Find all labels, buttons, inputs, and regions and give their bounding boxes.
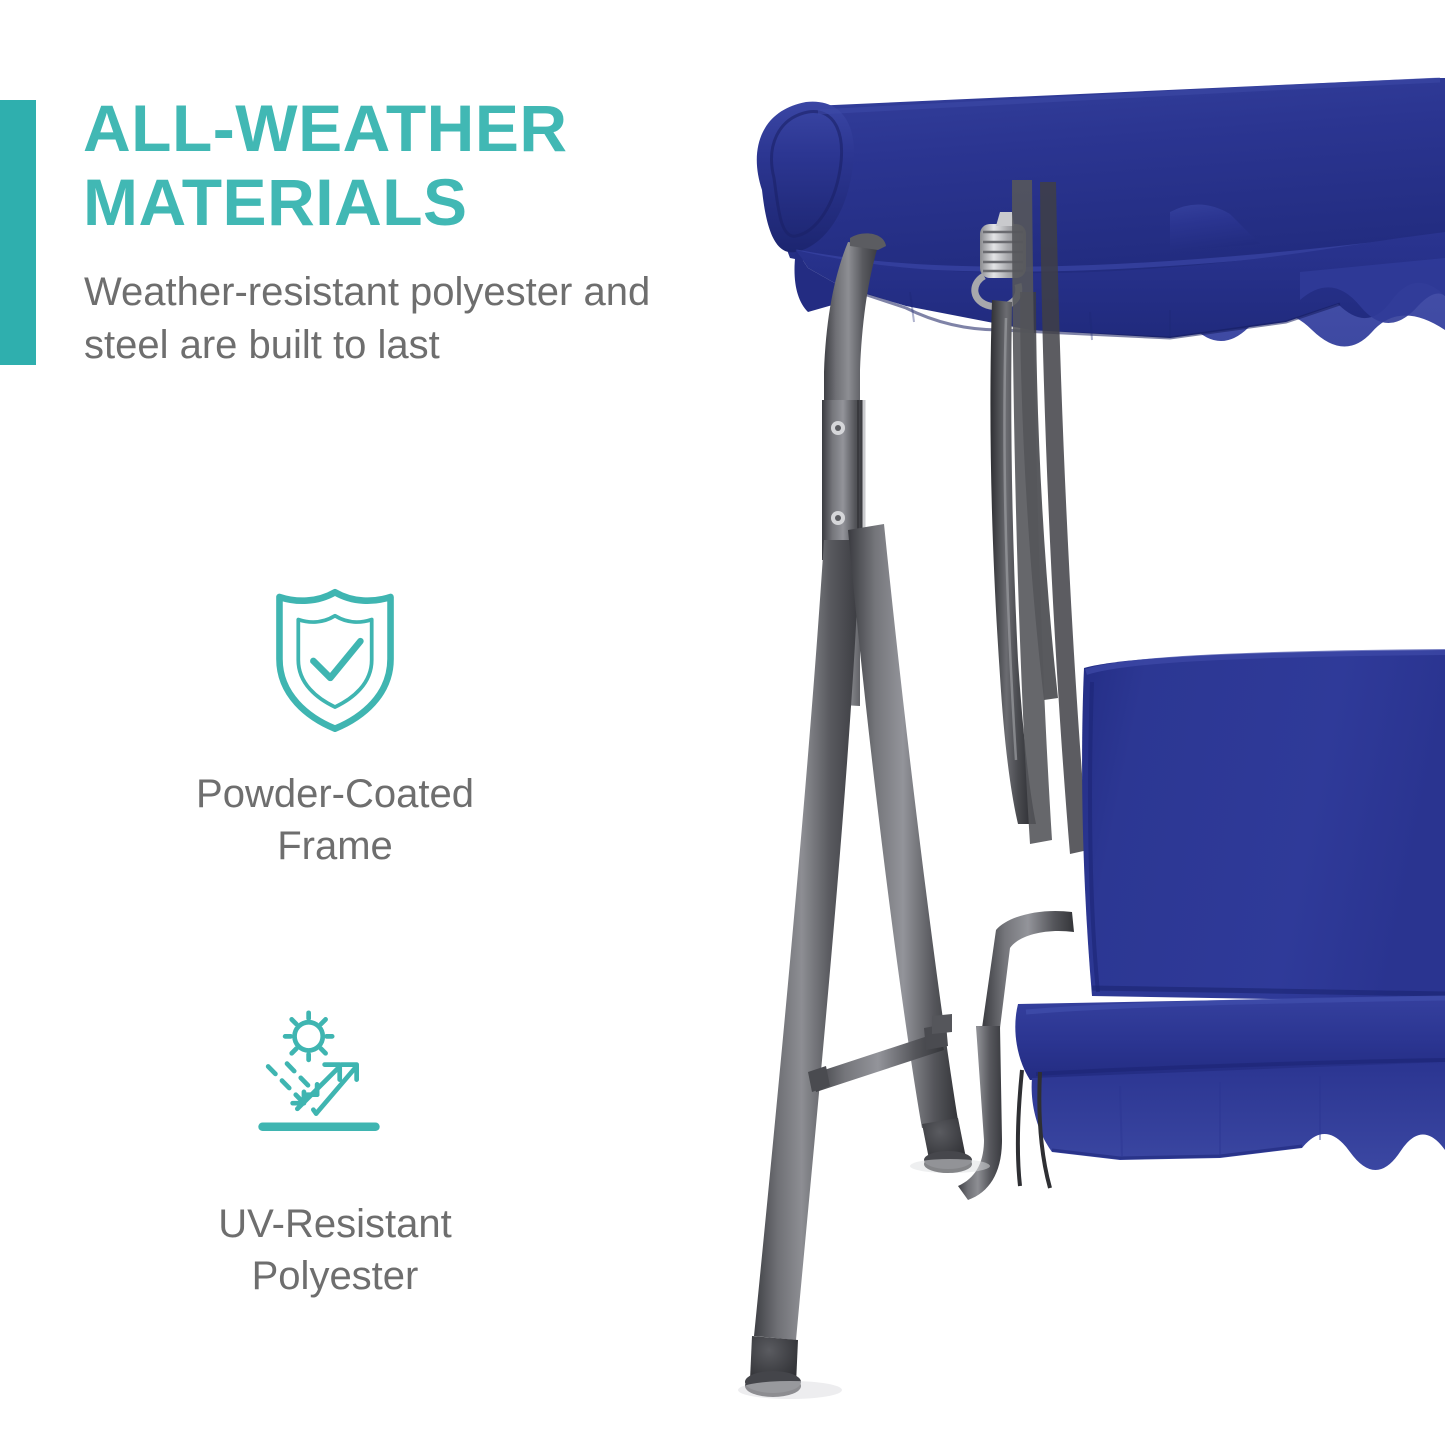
feature-uv-resistant-polyester: UV-Resistant Polyester	[105, 1010, 565, 1302]
product-image-navy-patio-swing	[700, 0, 1445, 1445]
feature-label: Powder-Coated Frame	[105, 768, 565, 872]
marketing-infographic: ALL-WEATHER MATERIALS Weather-resistant …	[0, 0, 1445, 1445]
page-title: ALL-WEATHER MATERIALS	[83, 92, 703, 240]
shield-check-icon	[250, 580, 420, 740]
seat-skirt	[1032, 1062, 1445, 1170]
feature-label: UV-Resistant Polyester	[105, 1198, 565, 1302]
feature-powder-coated-frame: Powder-Coated Frame	[105, 580, 565, 872]
uv-reflect-icon	[250, 1010, 420, 1170]
seat-back-cushion	[1082, 650, 1445, 1002]
accent-bar	[0, 100, 36, 365]
page-subtitle: Weather-resistant polyester and steel ar…	[84, 266, 709, 372]
